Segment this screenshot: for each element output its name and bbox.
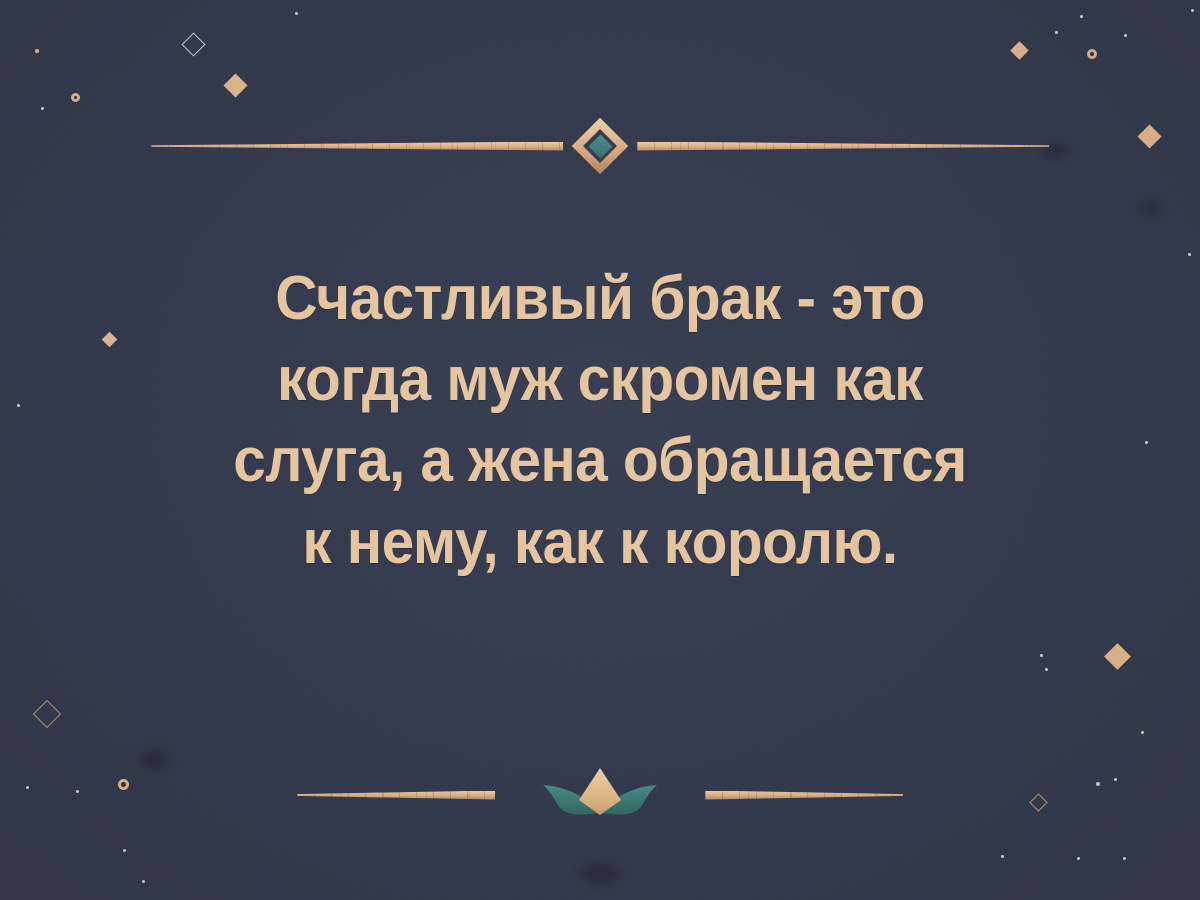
dot-icon bbox=[1124, 34, 1127, 37]
texture-smudge bbox=[1140, 200, 1162, 216]
dot-icon bbox=[1141, 731, 1144, 734]
dot-icon bbox=[35, 49, 39, 53]
divider-rule-right bbox=[705, 791, 903, 800]
diamond-icon bbox=[1104, 643, 1131, 670]
dot-icon bbox=[41, 107, 44, 110]
diamond-icon bbox=[1010, 41, 1028, 59]
dot-icon bbox=[1123, 857, 1126, 860]
quote-card: Счастливый брак - это когда муж скромен … bbox=[0, 0, 1200, 900]
diamond-outline-icon bbox=[181, 32, 205, 56]
diamond-ornament bbox=[571, 117, 629, 175]
texture-smudge bbox=[580, 862, 620, 884]
diamond-outline-icon bbox=[33, 700, 61, 728]
divider-top bbox=[0, 118, 1200, 174]
dot-icon bbox=[142, 880, 145, 883]
divider-rule-left bbox=[151, 142, 563, 151]
divider-rule-right bbox=[637, 142, 1049, 151]
dot-icon bbox=[1045, 668, 1048, 671]
dot-icon bbox=[1040, 654, 1043, 657]
dot-icon bbox=[1001, 855, 1004, 858]
dot-icon bbox=[1077, 857, 1080, 860]
lotus-ornament bbox=[493, 760, 707, 830]
dot-icon bbox=[1188, 253, 1191, 256]
quote-text: Счастливый брак - это когда муж скромен … bbox=[71, 258, 1129, 583]
circle-outline-icon bbox=[71, 93, 80, 102]
dot-icon bbox=[17, 404, 20, 407]
dot-icon bbox=[123, 849, 126, 852]
diamond-icon bbox=[223, 73, 247, 97]
dot-icon bbox=[1191, 9, 1194, 12]
divider-rule-left bbox=[297, 791, 495, 800]
dot-icon bbox=[1080, 15, 1083, 18]
divider-bottom bbox=[0, 760, 1200, 830]
circle-outline-icon bbox=[1087, 49, 1097, 59]
dot-icon bbox=[1145, 441, 1148, 444]
dot-icon bbox=[1055, 31, 1058, 34]
dot-icon bbox=[295, 12, 298, 15]
